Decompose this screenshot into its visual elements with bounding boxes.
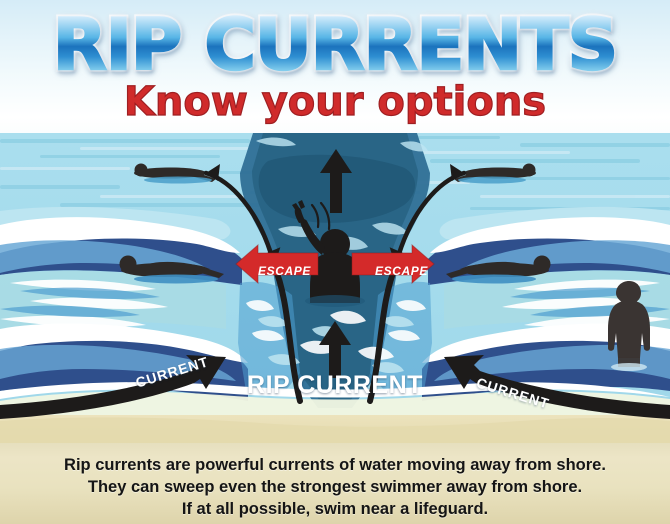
- footer-line: If at all possible, swim near a lifeguar…: [0, 498, 670, 520]
- footer-line: Rip currents are powerful currents of wa…: [0, 454, 670, 476]
- poster-subtitle: Know your options: [124, 80, 546, 124]
- ocean-diagram-svg: [0, 133, 670, 443]
- footer-line: They can sweep even the strongest swimme…: [0, 476, 670, 498]
- footer-text-block: Rip currents are powerful currents of wa…: [0, 454, 670, 520]
- rip-currents-poster: RIP CURRENTS RIP CURRENTS Know your opti…: [0, 0, 670, 524]
- poster-footer: Rip currents are powerful currents of wa…: [0, 443, 670, 524]
- rip-current-illustration: RIP CURRENT CURRENT CURRENT ESCAPE ESCAP…: [0, 133, 670, 443]
- poster-title: RIP CURRENTS: [0, 8, 670, 82]
- poster-header: RIP CURRENTS RIP CURRENTS Know your opti…: [0, 0, 670, 133]
- poster-subtitle-container: Know your options: [0, 80, 670, 124]
